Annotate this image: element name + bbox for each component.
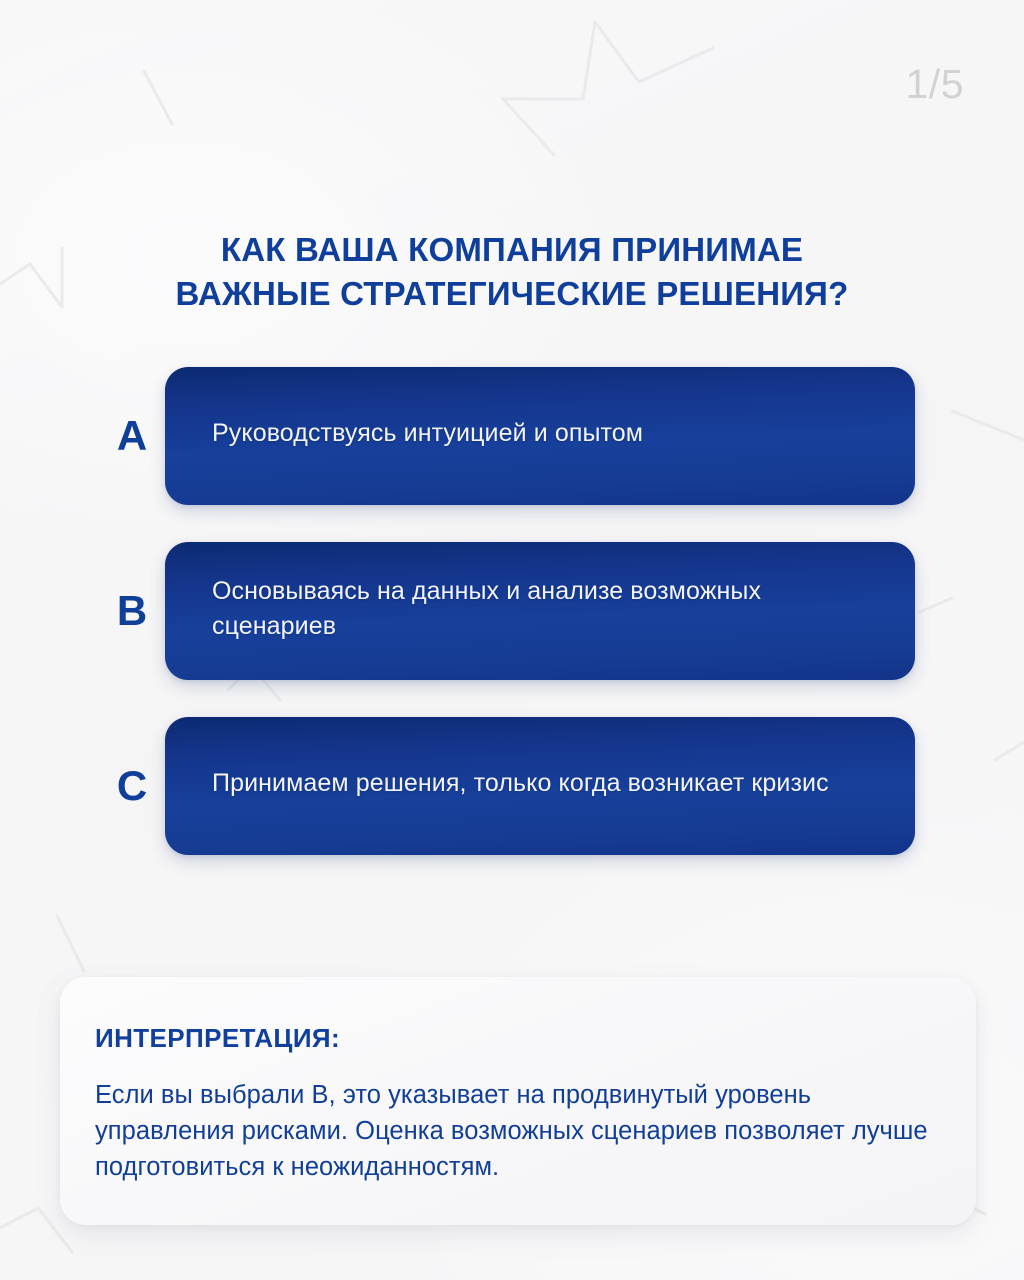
option-card-a[interactable]: Руководствуясь интуицией и опытом: [165, 367, 915, 505]
zigzag-line-top-center: [503, 22, 713, 99]
option-text-b: Основываясь на данных и анализе возможны…: [212, 574, 869, 645]
option-row-a: A Руководствуясь интуицией и опытом: [0, 367, 1024, 505]
option-row-c: C Принимаем решения, только когда возник…: [0, 717, 1024, 855]
option-text-c: Принимаем решения, только когда возникае…: [212, 766, 869, 802]
slide-canvas: 1/5 КАК ВАША КОМПАНИЯ ПРИНИМАЕ ВАЖНЫЕ СТ…: [0, 0, 1024, 1280]
page-counter: 1/5: [906, 64, 965, 105]
page-title-line-2: ВАЖНЫЕ СТРАТЕГИЧЕСКИЕ РЕШЕНИЯ?: [0, 272, 1024, 316]
interpretation-body: Если вы выбрали B, это указывает на прод…: [95, 1077, 936, 1186]
option-card-c[interactable]: Принимаем решения, только когда возникае…: [165, 717, 915, 855]
page-title-line-1: КАК ВАША КОМПАНИЯ ПРИНИМАЕ: [0, 228, 1024, 272]
options-list: A Руководствуясь интуицией и опытом B Ос…: [0, 367, 1024, 892]
diagonal-line-bottom-left: [57, 916, 84, 971]
chevron-line-bottom-left: [0, 1208, 72, 1252]
option-letter-b: B: [104, 542, 160, 680]
option-letter-a: A: [104, 367, 160, 505]
diagonal-line-top-left: [144, 71, 172, 124]
interpretation-panel: ИНТЕРПРЕТАЦИЯ: Если вы выбрали B, это ук…: [60, 977, 976, 1225]
zigzag-line-top-center-tail: [503, 99, 554, 155]
option-row-b: B Основываясь на данных и анализе возмож…: [0, 542, 1024, 680]
page-title: КАК ВАША КОМПАНИЯ ПРИНИМАЕ ВАЖНЫЕ СТРАТЕ…: [0, 228, 1024, 316]
option-text-a: Руководствуясь интуицией и опытом: [212, 416, 869, 452]
interpretation-heading: ИНТЕРПРЕТАЦИЯ:: [95, 1025, 936, 1051]
option-card-b[interactable]: Основываясь на данных и анализе возможны…: [165, 542, 915, 680]
option-letter-c: C: [104, 717, 160, 855]
